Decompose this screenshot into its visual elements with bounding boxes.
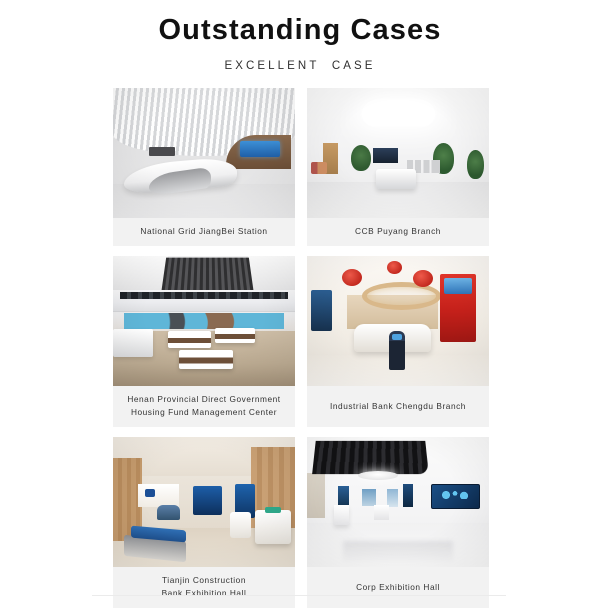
vehicle-display-detail	[157, 505, 181, 521]
service-robot-detail	[389, 331, 405, 370]
case-caption-line2: Bank Exhibition Hall	[162, 587, 247, 600]
seating-detail	[311, 162, 327, 174]
grid-ceiling-detail	[162, 258, 254, 290]
red-lantern-icon	[387, 261, 402, 274]
case-caption-line1: National Grid JiangBei Station	[140, 225, 267, 238]
side-counter-detail	[113, 329, 153, 358]
plant-detail	[351, 145, 371, 171]
display-panel-detail	[373, 148, 398, 164]
blue-display-detail	[193, 486, 222, 515]
case-card-industrial-bank-chengdu-branch[interactable]: Industrial Bank Chengdu Branch	[307, 256, 489, 427]
floor-reflection-detail	[343, 541, 452, 564]
service-desk-detail	[168, 331, 212, 348]
case-caption-tianjin-construction-bank-exhibition-hall: Tianjin Construction Bank Exhibition Hal…	[113, 567, 295, 608]
case-caption-line1: Corp Exhibition Hall	[356, 581, 440, 594]
exhibit-plinth-detail	[374, 505, 389, 521]
case-image-corp-exhibition-hall	[307, 437, 489, 567]
skylight-detail	[360, 100, 436, 127]
service-counter-detail	[376, 169, 416, 190]
service-desk-detail	[215, 328, 255, 344]
cases-grid: National Grid JiangBei Station CCB Puyan…	[113, 88, 489, 608]
exhibit-plinth-detail	[334, 505, 349, 526]
case-caption-corp-exhibition-hall: Corp Exhibition Hall	[307, 567, 489, 608]
case-caption-line1: Industrial Bank Chengdu Branch	[330, 400, 466, 413]
plant-detail	[467, 150, 483, 179]
case-caption-national-grid-jiangbei-station: National Grid JiangBei Station	[113, 218, 295, 246]
logo-wall-detail	[138, 484, 178, 507]
bottom-divider	[92, 595, 506, 596]
case-caption-ccb-puyang-branch: CCB Puyang Branch	[307, 218, 489, 246]
display-panel-detail	[403, 484, 412, 507]
people-detail	[124, 313, 284, 329]
case-caption-line1: Henan Provincial Direct Government	[127, 393, 280, 406]
case-caption-line1: CCB Puyang Branch	[355, 225, 441, 238]
red-lantern-icon	[413, 270, 433, 287]
kiosk-detail	[255, 510, 291, 544]
case-card-corp-exhibition-hall[interactable]: Corp Exhibition Hall	[307, 437, 489, 608]
ceiling-right-detail	[248, 256, 295, 290]
case-image-national-grid-jiangbei-station	[113, 88, 295, 218]
outstanding-cases-page: Outstanding Cases EXCELLENT CASE Nationa…	[0, 0, 600, 600]
monitor-detail	[149, 147, 174, 156]
case-caption-industrial-bank-chengdu-branch: Industrial Bank Chengdu Branch	[307, 386, 489, 427]
signage-band-detail	[120, 292, 287, 299]
wall-screen-detail	[240, 141, 280, 157]
slat-ceiling-detail	[312, 440, 429, 473]
case-card-ccb-puyang-branch[interactable]: CCB Puyang Branch	[307, 88, 489, 246]
left-wall-detail	[307, 473, 325, 517]
ceiling-left-detail	[113, 256, 168, 290]
case-image-industrial-bank-chengdu-branch	[307, 256, 489, 386]
case-image-tianjin-construction-bank-exhibition-hall	[113, 437, 295, 567]
ceiling-ring-light-detail	[362, 282, 441, 310]
case-card-tianjin-construction-bank-exhibition-hall[interactable]: Tianjin Construction Bank Exhibition Hal…	[113, 437, 295, 608]
case-image-ccb-puyang-branch	[307, 88, 489, 218]
case-caption-line1: Tianjin Construction	[162, 574, 247, 587]
disc-light-detail	[358, 471, 398, 480]
case-image-henan-provincial-housing-fund-center	[113, 256, 295, 386]
service-desk-detail	[179, 350, 234, 370]
page-subtitle: EXCELLENT CASE	[0, 59, 600, 73]
case-caption-line2: Housing Fund Management Center	[127, 406, 280, 419]
wall-screen-detail	[311, 290, 333, 332]
case-card-national-grid-jiangbei-station[interactable]: National Grid JiangBei Station	[113, 88, 295, 246]
display-panel-detail	[362, 489, 377, 506]
page-header: Outstanding Cases EXCELLENT CASE	[0, 0, 600, 73]
case-caption-henan-provincial-housing-fund-center: Henan Provincial Direct Government Housi…	[113, 386, 295, 427]
case-card-henan-provincial-housing-fund-center[interactable]: Henan Provincial Direct Government Housi…	[113, 256, 295, 427]
large-screen-detail	[431, 484, 480, 509]
red-digital-kiosk-detail	[440, 274, 476, 342]
red-lantern-icon	[342, 269, 362, 286]
page-title: Outstanding Cases	[0, 13, 600, 47]
kiosk-detail	[230, 512, 252, 538]
